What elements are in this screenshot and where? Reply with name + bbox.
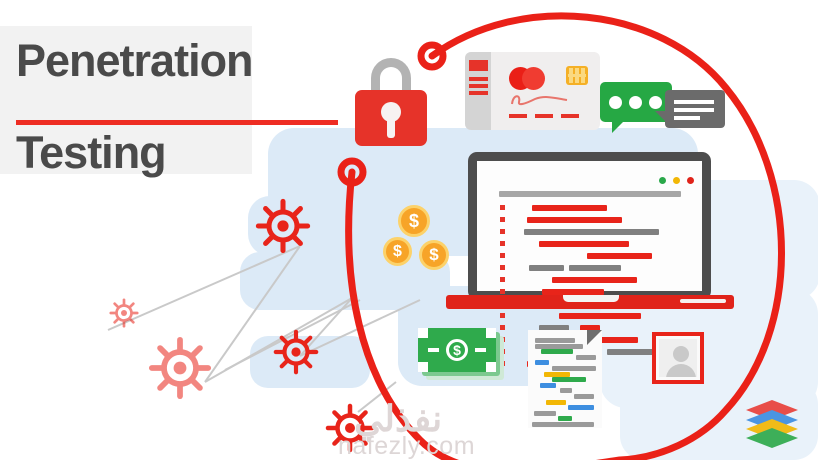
- malware-virus-icon: [148, 336, 212, 400]
- code-gutter-marker: [500, 241, 505, 246]
- card-stripe: [469, 77, 488, 81]
- dollar-coin-icon: $: [419, 240, 449, 270]
- layer-stack-icon: [744, 398, 800, 450]
- card-signature: [509, 92, 573, 108]
- chat-bubble-outgoing: [665, 90, 725, 128]
- title-divider: [16, 120, 338, 125]
- id-photo-icon: [652, 332, 704, 384]
- code-line: [539, 241, 629, 247]
- dollar-coin-icon: $: [383, 237, 412, 266]
- poster-canvas: Penetration Testing: [0, 0, 818, 460]
- laptop-with-code: [468, 152, 711, 314]
- padlock-icon: [355, 58, 427, 146]
- coin-dollar-sign: $: [393, 243, 402, 261]
- message-line: [674, 116, 700, 120]
- card-number-dash: [535, 114, 553, 118]
- coin-dollar-sign: $: [429, 245, 438, 265]
- document-line: [535, 360, 549, 365]
- code-line: [559, 313, 641, 319]
- laptop-trackpad-notch: [563, 295, 619, 302]
- document-line: [560, 388, 572, 393]
- code-line: [529, 265, 564, 271]
- malware-virus-icon: [255, 198, 311, 254]
- code-line: [569, 265, 621, 271]
- code-line: [532, 205, 607, 211]
- code-gutter-marker: [500, 277, 505, 282]
- avatar-head: [673, 346, 689, 362]
- code-line: [587, 253, 652, 259]
- traffic-light-yellow: [673, 177, 680, 184]
- typing-dot: [649, 96, 662, 109]
- document-line: [574, 394, 594, 399]
- malware-virus-icon: [273, 329, 319, 375]
- card-stripe: [469, 60, 488, 71]
- card-number-dash: [561, 114, 579, 118]
- code-gutter-marker: [500, 265, 505, 270]
- editor-toolbar: [499, 191, 681, 197]
- message-line: [674, 108, 714, 112]
- credit-card-icon: [465, 52, 600, 130]
- laptop-screen: [477, 161, 702, 291]
- code-gutter-marker: [500, 205, 505, 210]
- message-line: [674, 100, 714, 104]
- page-title: Penetration Testing: [0, 26, 252, 174]
- watermark-domain: nafezly.com: [338, 432, 475, 460]
- document-line: [535, 338, 575, 343]
- code-gutter-marker: [500, 313, 505, 318]
- document-line: [541, 349, 573, 354]
- report-document-icon: [528, 330, 602, 428]
- photo-inner: [659, 339, 697, 377]
- code-gutter-marker: [500, 217, 505, 222]
- code-line: [524, 229, 659, 235]
- document-line: [544, 372, 570, 377]
- document-line: [535, 344, 583, 349]
- laptop-base-highlight: [680, 299, 726, 303]
- document-line: [568, 405, 594, 410]
- document-line: [558, 416, 572, 421]
- document-line: [552, 366, 596, 371]
- page-fold-corner: [587, 330, 602, 345]
- padlock-keyhole-stem: [387, 116, 395, 138]
- code-gutter-marker: [500, 229, 505, 234]
- document-line: [552, 377, 586, 382]
- card-number-dash: [509, 114, 527, 118]
- document-line: [576, 355, 596, 360]
- dollar-coin-icon: $: [398, 205, 430, 237]
- bill-front: $: [418, 328, 496, 372]
- typing-dot: [629, 96, 642, 109]
- cash-bills-icon: $: [418, 328, 504, 380]
- code-line: [552, 277, 637, 283]
- title-line-1: Penetration: [16, 34, 238, 88]
- malware-virus-icon: [109, 298, 139, 328]
- traffic-light-red: [687, 177, 694, 184]
- card-stripe: [469, 84, 488, 88]
- code-gutter-marker: [500, 253, 505, 258]
- bubble-tail: [612, 121, 624, 133]
- code-line: [527, 217, 622, 223]
- title-line-2: Testing: [16, 126, 166, 180]
- avatar-body: [666, 364, 696, 377]
- typing-dot: [609, 96, 622, 109]
- code-gutter-marker: [500, 289, 505, 294]
- bill-dollar-sign: $: [446, 339, 468, 361]
- watermark: نفذلي nafezly.com: [338, 398, 538, 456]
- document-line: [540, 383, 556, 388]
- card-logo-circle: [522, 67, 545, 90]
- traffic-light-green: [659, 177, 666, 184]
- card-chip-icon: [566, 66, 588, 85]
- card-stripe: [469, 91, 488, 95]
- document-line: [532, 422, 594, 427]
- document-line: [546, 400, 566, 405]
- coin-dollar-sign: $: [409, 211, 419, 232]
- bubble-tail: [655, 111, 666, 122]
